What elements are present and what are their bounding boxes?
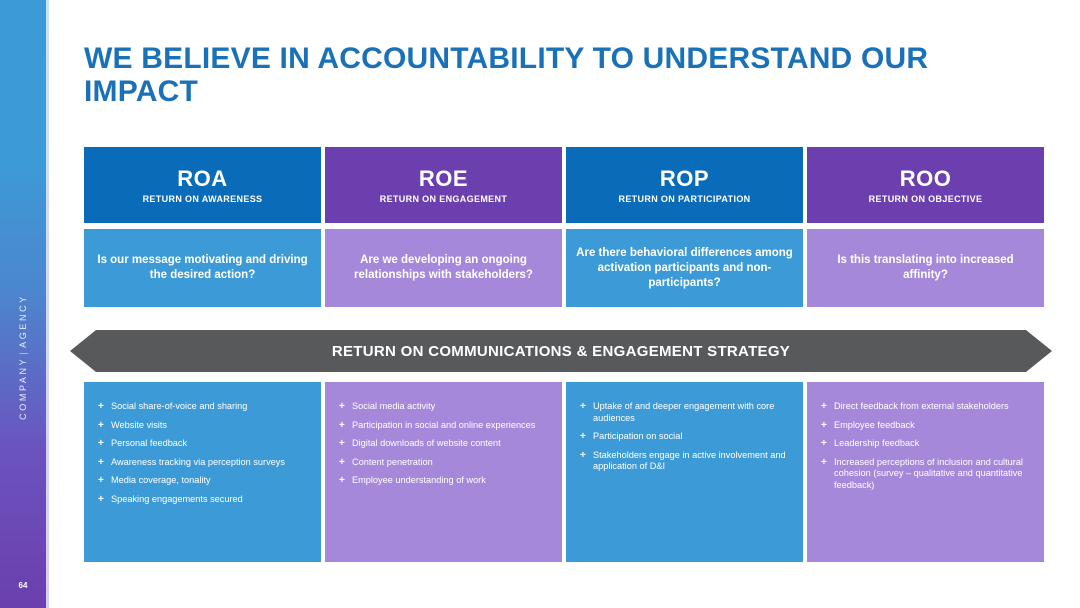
metric-question-rop: Are there behavioral differences among a… [566, 229, 803, 307]
metric-question-roa: Is our message motivating and driving th… [84, 229, 321, 307]
plus-icon: + [821, 438, 834, 450]
list-item: +Social share-of-voice and sharing [98, 401, 309, 413]
plus-icon: + [98, 494, 111, 506]
list-item-label: Website visits [111, 420, 309, 432]
metric-header-roo: ROORETURN ON OBJECTIVE [807, 147, 1044, 223]
metric-header-roe: ROERETURN ON ENGAGEMENT [325, 147, 562, 223]
plus-icon: + [821, 457, 834, 469]
metric-column-roa: ROARETURN ON AWARENESSIs our message mot… [84, 147, 321, 307]
metric-column-roo: ROORETURN ON OBJECTIVEIs this translatin… [807, 147, 1044, 307]
metric-bullets-rop: +Uptake of and deeper engagement with co… [566, 382, 803, 562]
list-item-label: Employee understanding of work [352, 475, 550, 487]
plus-icon: + [339, 457, 352, 469]
metrics-header-row: ROARETURN ON AWARENESSIs our message mot… [84, 147, 1044, 307]
plus-icon: + [98, 420, 111, 432]
plus-icon: + [339, 438, 352, 450]
metric-abbr: ROO [900, 167, 952, 191]
list-item: +Participation in social and online expe… [339, 420, 550, 432]
list-item-label: Participation on social [593, 431, 791, 443]
plus-icon: + [339, 475, 352, 487]
list-item: +Website visits [98, 420, 309, 432]
metric-abbr: ROP [660, 167, 709, 191]
plus-icon: + [821, 420, 834, 432]
list-item-label: Content penetration [352, 457, 550, 469]
footer-brand-company: COMPANY [18, 357, 28, 420]
metric-header-roa: ROARETURN ON AWARENESS [84, 147, 321, 223]
metrics-detail-row: +Social share-of-voice and sharing+Websi… [84, 382, 1044, 562]
list-item-label: Personal feedback [111, 438, 309, 450]
slide-title: WE BELIEVE IN ACCOUNTABILITY TO UNDERSTA… [84, 42, 984, 108]
footer-brand-agency: AGENCY [18, 294, 28, 348]
strategy-banner: RETURN ON COMMUNICATIONS & ENGAGEMENT ST… [70, 330, 1052, 372]
metric-column-rop: ROPRETURN ON PARTICIPATIONAre there beha… [566, 147, 803, 307]
page-number: 64 [0, 581, 46, 590]
list-item-label: Direct feedback from external stakeholde… [834, 401, 1032, 413]
list-item-label: Increased perceptions of inclusion and c… [834, 457, 1032, 492]
metric-bullets-roo: +Direct feedback from external stakehold… [807, 382, 1044, 562]
footer-brand-vertical: COMPANY|AGENCY [18, 287, 28, 427]
list-item: +Content penetration [339, 457, 550, 469]
metric-full-name: RETURN ON PARTICIPATION [618, 194, 750, 204]
metric-question-roo: Is this translating into increased affin… [807, 229, 1044, 307]
list-item-label: Uptake of and deeper engagement with cor… [593, 401, 791, 424]
plus-icon: + [98, 457, 111, 469]
metric-bullets-roa: +Social share-of-voice and sharing+Websi… [84, 382, 321, 562]
list-item-label: Digital downloads of website content [352, 438, 550, 450]
list-item: +Media coverage, tonality [98, 475, 309, 487]
metric-full-name: RETURN ON ENGAGEMENT [380, 194, 508, 204]
metric-header-rop: ROPRETURN ON PARTICIPATION [566, 147, 803, 223]
list-item-label: Stakeholders engage in active involvemen… [593, 450, 791, 473]
plus-icon: + [580, 431, 593, 443]
list-item: +Digital downloads of website content [339, 438, 550, 450]
list-item-label: Social share-of-voice and sharing [111, 401, 309, 413]
metric-abbr: ROE [419, 167, 468, 191]
list-item-label: Employee feedback [834, 420, 1032, 432]
list-item-label: Media coverage, tonality [111, 475, 309, 487]
list-item-label: Speaking engagements secured [111, 494, 309, 506]
metric-full-name: RETURN ON OBJECTIVE [869, 194, 983, 204]
list-item: +Direct feedback from external stakehold… [821, 401, 1032, 413]
list-item: +Social media activity [339, 401, 550, 413]
metric-question-roe: Are we developing an ongoing relationshi… [325, 229, 562, 307]
list-item: +Personal feedback [98, 438, 309, 450]
plus-icon: + [98, 438, 111, 450]
list-item: +Speaking engagements secured [98, 494, 309, 506]
metric-column-roe: ROERETURN ON ENGAGEMENTAre we developing… [325, 147, 562, 307]
list-item: +Employee feedback [821, 420, 1032, 432]
list-item: +Participation on social [580, 431, 791, 443]
plus-icon: + [339, 420, 352, 432]
footer-brand-separator: | [18, 348, 28, 357]
list-item-label: Social media activity [352, 401, 550, 413]
plus-icon: + [98, 475, 111, 487]
metric-abbr: ROA [177, 167, 227, 191]
list-item-label: Leadership feedback [834, 438, 1032, 450]
left-rail-edge [46, 0, 49, 608]
list-item: +Employee understanding of work [339, 475, 550, 487]
list-item-label: Participation in social and online exper… [352, 420, 550, 432]
metric-full-name: RETURN ON AWARENESS [143, 194, 263, 204]
list-item-label: Awareness tracking via perception survey… [111, 457, 309, 469]
plus-icon: + [580, 401, 593, 413]
plus-icon: + [98, 401, 111, 413]
plus-icon: + [821, 401, 834, 413]
list-item: +Uptake of and deeper engagement with co… [580, 401, 791, 424]
list-item: +Stakeholders engage in active involveme… [580, 450, 791, 473]
plus-icon: + [580, 450, 593, 462]
list-item: +Leadership feedback [821, 438, 1032, 450]
list-item: +Increased perceptions of inclusion and … [821, 457, 1032, 492]
metric-bullets-roe: +Social media activity+Participation in … [325, 382, 562, 562]
plus-icon: + [339, 401, 352, 413]
list-item: +Awareness tracking via perception surve… [98, 457, 309, 469]
